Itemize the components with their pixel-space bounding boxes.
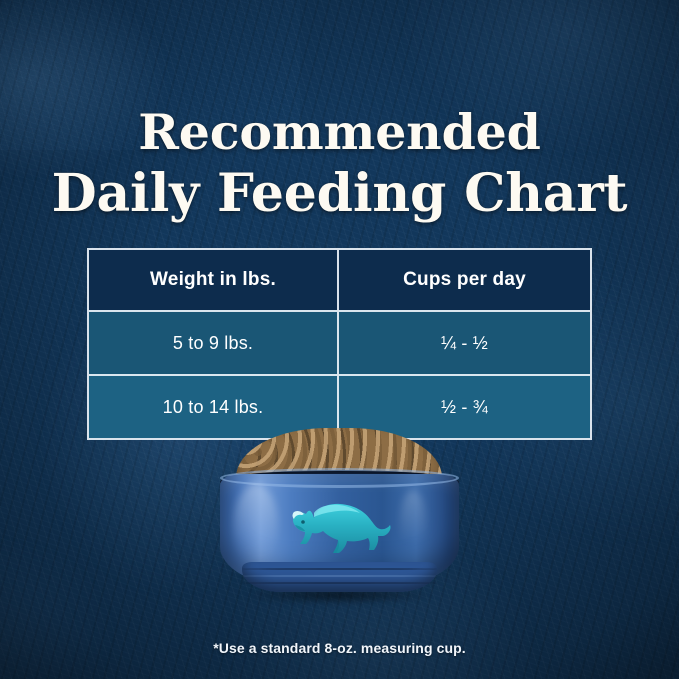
bowl-base-ring — [242, 582, 437, 584]
column-header-cups: Cups per day — [337, 250, 590, 310]
bowl-base-ring — [242, 575, 437, 577]
page-title: Recommended Daily Feeding Chart — [0, 104, 679, 225]
table-header-row: Weight in lbs. Cups per day — [89, 250, 590, 310]
column-header-weight: Weight in lbs. — [89, 250, 337, 310]
feeding-chart-graphic: Recommended Daily Feeding Chart Weight i… — [0, 0, 679, 679]
feeding-chart-table: Weight in lbs. Cups per day 5 to 9 lbs. … — [89, 250, 590, 438]
table-row: 5 to 9 lbs. ¼ - ½ — [89, 310, 590, 374]
footnote-text: *Use a standard 8-oz. measuring cup. — [0, 640, 679, 656]
bowl-base-ring — [242, 568, 437, 570]
table-header: Weight in lbs. Cups per day — [89, 250, 590, 310]
table-body: 5 to 9 lbs. ¼ - ½ 10 to 14 lbs. ½ - ¾ — [89, 310, 590, 438]
bowl-gloss-right — [400, 490, 426, 560]
buffalo-logo-icon — [284, 498, 396, 558]
page-title-line-2: Daily Feeding Chart — [0, 163, 679, 224]
cell-weight-range: 5 to 9 lbs. — [89, 310, 337, 374]
dog-food-bowl — [196, 428, 483, 608]
cell-cups-amount: ¼ - ½ — [337, 310, 590, 374]
bowl-base — [242, 562, 437, 592]
page-title-line-1: Recommended — [0, 104, 679, 162]
bowl-gloss-left — [234, 484, 278, 568]
